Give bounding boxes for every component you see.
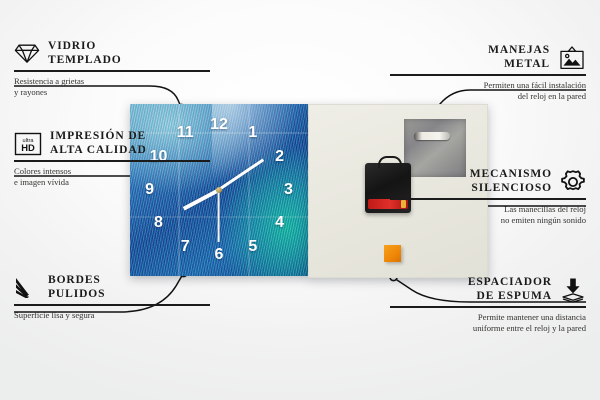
diamond-icon — [14, 43, 40, 64]
callout-subtitle: Permite mantener una distancia — [390, 312, 586, 324]
clock-numeral-3: 3 — [284, 182, 293, 198]
callout-subtitle: Superficie lisa y segura — [14, 310, 210, 322]
callout-bordes-pulidos: BORDES PULIDOS Superficie lisa y segura — [14, 274, 210, 321]
callout-title-line2: TEMPLADO — [48, 54, 122, 68]
callout-vidrio-templado: VIDRIO TEMPLADO Resistencia a grietas y … — [14, 40, 210, 99]
callout-subtitle-line2: e imagen vívida — [14, 177, 210, 189]
callout-title: MECANISMO — [390, 168, 552, 182]
callout-title: BORDES — [48, 274, 105, 288]
clock-numeral-7: 7 — [181, 239, 190, 255]
callout-subtitle-line2: no emiten ningún sonido — [390, 215, 586, 227]
callout-rule — [390, 74, 586, 75]
gear-icon — [560, 169, 586, 195]
movement-hanger-loop — [378, 156, 402, 168]
callout-impresion-alta-calidad: ultra HD IMPRESIÓN DE ALTA CALIDAD Color… — [14, 130, 210, 189]
clock-second-hand — [218, 190, 220, 242]
callout-espaciador-de-espuma: ESPACIADOR DE ESPUMA Permite mantener un… — [390, 276, 586, 335]
clock-numeral-1: 1 — [248, 125, 257, 141]
callout-title: IMPRESIÓN DE — [50, 130, 147, 144]
polished-edges-icon — [14, 277, 40, 299]
foam-spacer-icon — [560, 277, 586, 303]
svg-text:HD: HD — [21, 142, 35, 153]
callout-subtitle-line2: del reloj en la pared — [390, 91, 586, 103]
clock-numeral-6: 6 — [215, 247, 224, 263]
clock-numeral-5: 5 — [248, 239, 257, 255]
callout-rule — [390, 306, 586, 307]
callout-subtitle: Colores intensos — [14, 166, 210, 178]
callout-title-line2: DE ESPUMA — [390, 290, 552, 304]
callout-subtitle: Permiten una fácil instalación — [390, 80, 586, 92]
callout-manejas-metal: MANEJAS METAL Permiten una fácil instala… — [390, 44, 586, 103]
callout-title-line2: PULIDOS — [48, 288, 105, 302]
callout-subtitle: Resistencia a grietas — [14, 76, 210, 88]
clock-hour-hand — [183, 188, 220, 210]
callout-rule — [390, 198, 586, 199]
hanger-keyhole-slot — [414, 132, 450, 140]
callout-rule — [14, 70, 210, 71]
clock-center-hub — [216, 187, 222, 193]
clock-numeral-2: 2 — [275, 149, 284, 165]
clock-numeral-4: 4 — [275, 215, 284, 231]
ultra-hd-icon: ultra HD — [14, 132, 42, 156]
callout-title: VIDRIO — [48, 40, 122, 54]
callout-rule — [14, 304, 210, 305]
callout-mecanismo-silencioso: MECANISMO SILENCIOSO Las manecillas del … — [390, 168, 586, 227]
callout-title: MANEJAS — [390, 44, 550, 58]
picture-frame-icon — [558, 46, 586, 70]
callout-subtitle: Las manecillas del reloj — [390, 204, 586, 216]
clock-numeral-8: 8 — [154, 215, 163, 231]
callout-title-line2: ALTA CALIDAD — [50, 144, 147, 158]
callout-subtitle-line2: y rayones — [14, 87, 210, 99]
callout-title-line2: METAL — [390, 58, 550, 72]
callout-title: ESPACIADOR — [390, 276, 552, 290]
callout-rule — [14, 160, 210, 161]
callout-subtitle-line2: uniforme entre el reloj y la pared — [390, 323, 586, 335]
callout-title-line2: SILENCIOSO — [390, 182, 552, 196]
foam-spacer — [384, 245, 401, 262]
clock-numeral-12: 12 — [210, 117, 228, 133]
infographic-canvas: 12 1 2 3 4 5 6 7 8 9 10 11 — [0, 0, 600, 400]
